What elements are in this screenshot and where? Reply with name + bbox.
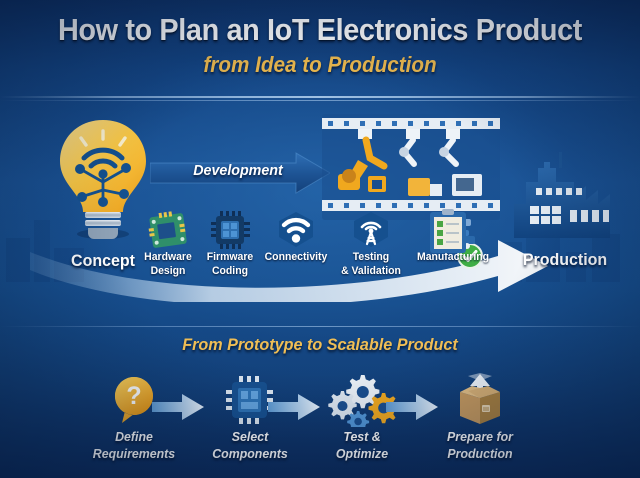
bottom-item-define-requirements-label-2: Requirements [77,447,191,462]
step-hardware-design-label-1: Hardware [138,252,199,264]
infographic-canvas: How to Plan an IoT Electronics Product f… [0,0,640,478]
step-testing-validation-label-1: Testing [334,252,408,264]
assembly-line-robots-icon [322,114,500,220]
page-title: How to Plan an IoT Electronics Product [22,14,617,47]
production-block: Production [500,152,630,270]
main-flow: Development [0,104,640,319]
bottom-item-prepare-for-production-label-2: Production [423,447,537,462]
antenna-tower-icon [332,208,410,250]
step-firmware-coding-label-1: Firmware [200,252,261,264]
step-firmware-coding-label-2: Coding [200,266,261,278]
divider-bottom [0,326,640,327]
bottom-item-select-components-label-1: Select [193,430,307,445]
divider-top-soft [0,100,640,101]
step-firmware-coding[interactable]: Firmware Coding [198,208,262,278]
bottom-item-test-optimize-label-2: Optimize [305,447,419,462]
bottom-item-prepare-for-production-label-1: Prepare for [423,430,537,445]
development-arrow-icon [150,152,330,194]
step-testing-validation[interactable]: Testing & Validation [332,208,410,278]
band-label: From Prototype to Scalable Product [16,335,624,355]
svg-text:?: ? [126,382,141,410]
checklist-clipboard-icon [428,208,468,254]
bottom-item-test-optimize-label-1: Test & [305,430,419,445]
production-label: Production [504,250,626,270]
step-hardware-design[interactable]: Hardware Design [136,208,200,278]
header: How to Plan an IoT Electronics Product f… [0,14,640,78]
step-testing-validation-label-2: & Validation [334,266,408,278]
step-hardware-design-label-2: Design [138,266,199,278]
open-box-icon [420,372,540,428]
bottom-steps: ? Define Requirements [0,372,640,478]
page-subtitle: from Idea to Production [19,52,621,78]
step-connectivity[interactable]: Connectivity [258,208,334,266]
divider-top [0,96,640,98]
step-connectivity-label-1: Connectivity [260,252,332,264]
pcb-board-icon [136,208,200,250]
bottom-item-define-requirements-label-1: Define [77,430,191,445]
microchip-icon [198,208,262,250]
bottom-item-select-components-label-2: Components [193,447,307,462]
wifi-shield-icon [258,208,334,250]
factory-icon [500,152,630,244]
bottom-item-prepare-for-production[interactable]: Prepare for Production [420,372,540,461]
